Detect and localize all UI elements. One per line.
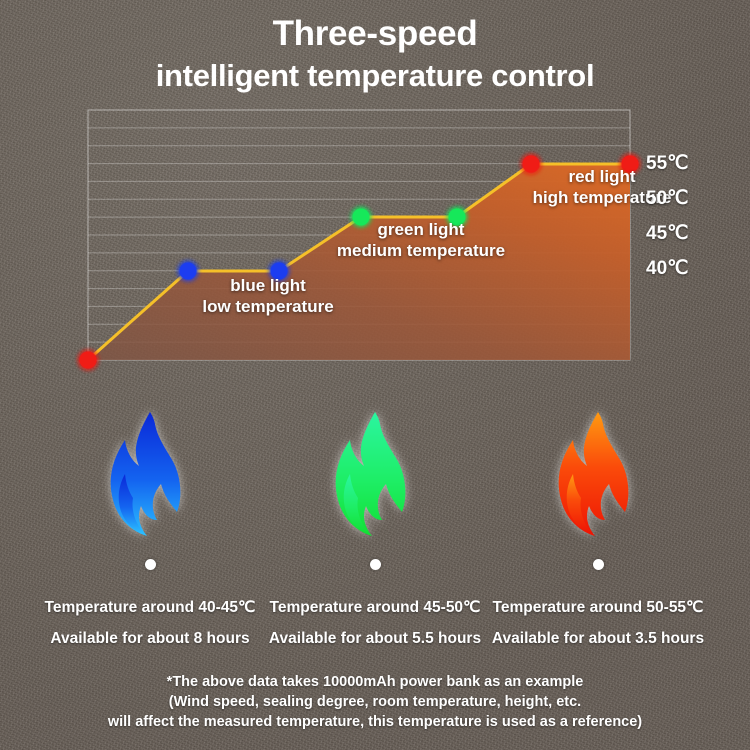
mode-card-medium[interactable]: Temperature around 45-50℃ Available for … [250, 408, 500, 654]
red-flame-icon [473, 408, 723, 553]
annotation-blue-line1: blue light [168, 275, 368, 296]
blue-flame-icon [25, 408, 275, 553]
mode-duration-low: Available for about 8 hours [25, 623, 275, 654]
ytick-label-55: 55℃ [646, 152, 688, 175]
infographic-root: Three-speed intelligent temperature cont… [0, 0, 750, 750]
mode-card-low[interactable]: Temperature around 40-45℃ Available for … [25, 408, 275, 654]
ytick-label-45: 45℃ [646, 222, 688, 245]
mode-temperature-medium: Temperature around 45-50℃ [250, 592, 500, 623]
mode-card-high[interactable]: Temperature around 50-55℃ Available for … [473, 408, 723, 654]
footnote-line-2: (Wind speed, sealing degree, room temper… [0, 692, 750, 712]
mode-indicator-dot-low [145, 559, 156, 570]
temperature-chart: blue light low temperature green light m… [0, 0, 750, 400]
red-flame-glyph [543, 408, 653, 553]
mode-indicator-dot-medium [370, 559, 381, 570]
green-flame-icon [250, 408, 500, 553]
annotation-blue: blue light low temperature [168, 275, 368, 317]
ytick-label-40: 40℃ [646, 257, 688, 280]
blue-flame-glyph [95, 408, 205, 553]
footnote-line-1: *The above data takes 10000mAh power ban… [0, 672, 750, 692]
green-flame-glyph [320, 408, 430, 553]
mode-duration-medium: Available for about 5.5 hours [250, 623, 500, 654]
annotation-blue-line2: low temperature [168, 296, 368, 317]
annotation-green: green light medium temperature [311, 219, 531, 261]
marker-red-start[interactable] [80, 352, 97, 369]
annotation-green-line1: green light [311, 219, 531, 240]
annotation-green-line2: medium temperature [311, 240, 531, 261]
ytick-label-50: 50℃ [646, 187, 688, 210]
mode-temperature-high: Temperature around 50-55℃ [473, 592, 723, 623]
mode-temperature-low: Temperature around 40-45℃ [25, 592, 275, 623]
mode-duration-high: Available for about 3.5 hours [473, 623, 723, 654]
mode-indicator-dot-high [593, 559, 604, 570]
footnote: *The above data takes 10000mAh power ban… [0, 672, 750, 732]
footnote-line-3: will affect the measured temperature, th… [0, 712, 750, 732]
